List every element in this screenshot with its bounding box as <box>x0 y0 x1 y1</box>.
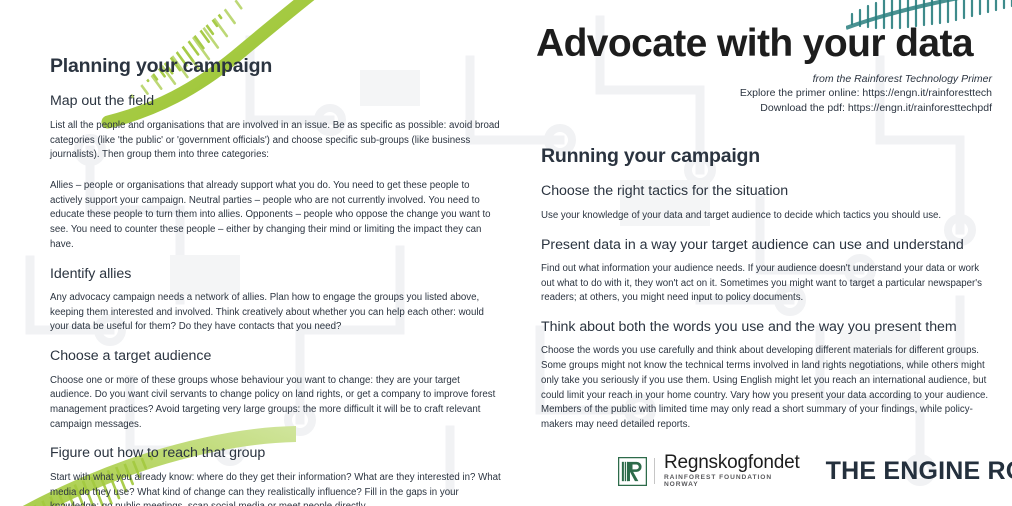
heading-choose-the-right-tactics: Choose the right tactics for the situati… <box>541 183 991 199</box>
block-map-out-the-field: Map out the field List all the people an… <box>50 93 502 252</box>
block-present-data: Present data in a way your target audien… <box>541 237 991 307</box>
paragraph-map-out-the-field-1: List all the people and organisations th… <box>50 119 502 163</box>
block-choose-the-right-tactics: Choose the right tactics for the situati… <box>541 183 991 223</box>
block-figure-out-how-to-reach-that-group: Figure out how to reach that group Start… <box>50 445 502 506</box>
heading-identify-allies: Identify allies <box>50 266 502 282</box>
paragraph-think-about-words-1: Choose the words you use carefully and t… <box>541 344 991 432</box>
page-title: Advocate with your data <box>536 24 992 65</box>
footer-logos: Regnskogfondet RAINFOREST FOUNDATION NOR… <box>618 451 1012 491</box>
rainforest-foundation-logo[interactable]: Regnskogfondet RAINFOREST FOUNDATION NOR… <box>618 451 800 491</box>
left-column: Planning your campaign Map out the field… <box>50 56 502 506</box>
paragraph-present-data-1: Find out what information your audience … <box>541 262 991 306</box>
rainforest-logo-wordmark: Regnskogfondet RAINFOREST FOUNDATION NOR… <box>664 453 800 488</box>
the-engine-room-logo[interactable]: THE ENGINE ROOM <box>826 459 1012 484</box>
block-identify-allies: Identify allies Any advocacy campaign ne… <box>50 266 502 336</box>
left-section-title: Planning your campaign <box>50 56 502 77</box>
rainforest-logo-name: Regnskogfondet <box>664 453 800 472</box>
rainforest-logo-tagline: RAINFOREST FOUNDATION NORWAY <box>664 475 800 488</box>
paragraph-map-out-the-field-2: Allies – people or organisations that al… <box>50 179 502 253</box>
rainforest-r-mark-icon <box>618 457 647 486</box>
paragraph-choose-the-right-tactics-1: Use your knowledge of your data and targ… <box>541 209 991 224</box>
paragraph-identify-allies-1: Any advocacy campaign needs a network of… <box>50 291 502 335</box>
paragraph-figure-out-how-to-reach-that-group-1: Start with what you already know: where … <box>50 471 502 506</box>
primer-pdf-line[interactable]: Download the pdf: https://engn.it/rainfo… <box>536 101 992 116</box>
right-column: Running your campaign Choose the right t… <box>541 146 991 433</box>
right-section-title: Running your campaign <box>541 146 991 167</box>
block-think-about-words: Think about both the words you use and t… <box>541 319 991 433</box>
masthead: Advocate with your data from the Rainfor… <box>536 24 992 116</box>
heading-present-data: Present data in a way your target audien… <box>541 237 991 253</box>
heading-choose-a-target-audience: Choose a target audience <box>50 348 502 364</box>
paragraph-choose-a-target-audience-1: Choose one or more of these groups whose… <box>50 374 502 433</box>
heading-figure-out-how-to-reach-that-group: Figure out how to reach that group <box>50 445 502 461</box>
masthead-subtitle-block: from the Rainforest Technology Primer Ex… <box>536 72 992 117</box>
heading-map-out-the-field: Map out the field <box>50 93 502 109</box>
heading-think-about-words: Think about both the words you use and t… <box>541 319 991 335</box>
primer-online-line[interactable]: Explore the primer online: https://engn.… <box>536 86 992 101</box>
poster-page: Advocate with your data from the Rainfor… <box>0 0 1012 506</box>
block-choose-a-target-audience: Choose a target audience Choose one or m… <box>50 348 502 432</box>
primer-source-line: from the Rainforest Technology Primer <box>536 72 992 87</box>
logo-divider <box>654 458 655 484</box>
